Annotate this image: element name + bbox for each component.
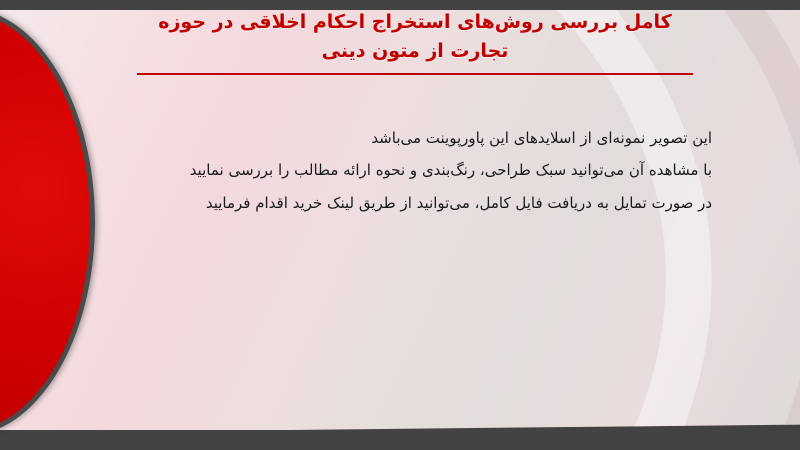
- slide-body-text: این تصویر نمونه‌ای از اسلایدهای این پاور…: [112, 122, 712, 219]
- bottom-dark-band: [0, 430, 800, 450]
- body-line-2: با مشاهده آن می‌توانید سبک طراحی، رنگ‌بن…: [112, 154, 712, 186]
- title-underline-divider: [137, 73, 693, 75]
- title-line-1: کامل بررسی روش‌های استخراج احکام اخلاقی …: [130, 8, 700, 37]
- title-line-2: تجارت از متون دینی: [130, 37, 700, 66]
- presentation-slide: کامل بررسی روش‌های استخراج احکام اخلاقی …: [0, 0, 800, 450]
- body-line-1: این تصویر نمونه‌ای از اسلایدهای این پاور…: [112, 122, 712, 154]
- slide-title: کامل بررسی روش‌های استخراج احکام اخلاقی …: [130, 8, 700, 75]
- body-line-3: در صورت تمایل به دریافت فایل کامل، می‌تو…: [112, 187, 712, 219]
